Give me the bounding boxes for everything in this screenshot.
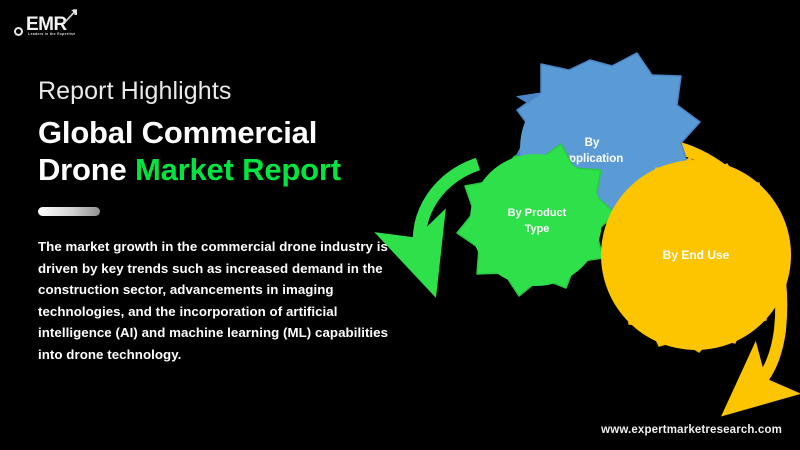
gear-by-product-type-label-2: Type bbox=[525, 223, 550, 235]
gear-by-end-use-label: By End Use bbox=[663, 248, 730, 262]
summary-paragraph: The market growth in the commercial dron… bbox=[38, 236, 410, 365]
headline-line-2-plain: Drone bbox=[38, 152, 135, 187]
gear-by-application-label-1: By bbox=[585, 137, 600, 149]
gear-diagram: By Application By Product Type By End Us… bbox=[400, 30, 800, 420]
emr-logo-ring-icon bbox=[14, 27, 23, 36]
headline-line-2-accent: Market Report bbox=[135, 152, 341, 187]
headline-line-1: Global Commercial bbox=[38, 115, 317, 150]
title-divider bbox=[38, 207, 100, 216]
emr-logo-arrow-icon bbox=[62, 8, 78, 24]
page-title: Global Commercial Drone Market Report bbox=[38, 114, 410, 190]
hero-text-block: Report Highlights Global Commercial Dron… bbox=[38, 78, 410, 365]
site-url[interactable]: www.expertmarketresearch.com bbox=[601, 424, 782, 436]
emr-logo-tagline: Leaders in the Expertise bbox=[28, 33, 76, 37]
emr-logo[interactable]: EMR Leaders in the Expertise bbox=[12, 6, 84, 42]
slide-canvas: EMR Leaders in the Expertise Report High… bbox=[0, 0, 800, 450]
eyebrow-label: Report Highlights bbox=[38, 78, 410, 106]
emr-logo-mark: EMR Leaders in the Expertise bbox=[12, 6, 84, 42]
gear-by-product-type-label-1: By Product bbox=[508, 207, 567, 219]
